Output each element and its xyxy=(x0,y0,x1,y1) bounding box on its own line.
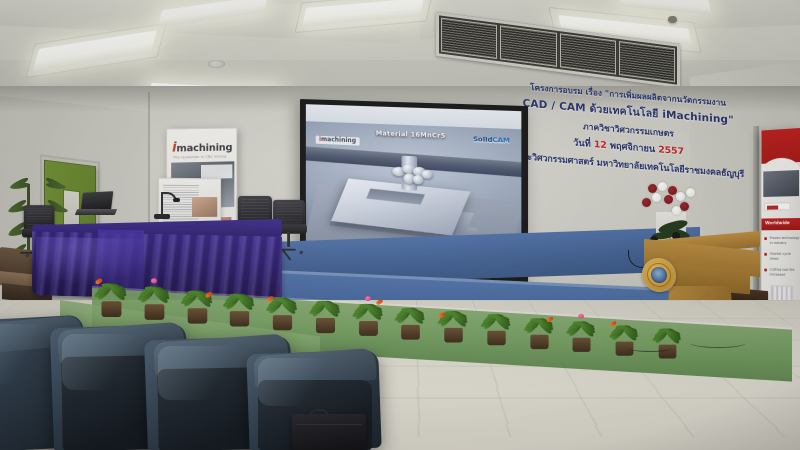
ceiling-fitting-1 xyxy=(208,60,225,68)
presenter-laptop[interactable] xyxy=(76,192,116,218)
solidcam-logo-icon: SolidCAM xyxy=(473,135,510,143)
banner-right-header xyxy=(761,128,800,164)
fern-foliage xyxy=(220,287,261,318)
briefcase-seam xyxy=(296,424,362,425)
fern-pink-flower xyxy=(365,296,371,301)
potted-fern xyxy=(349,294,389,336)
fern-foliage xyxy=(306,294,346,324)
banner-left-callout xyxy=(201,164,232,179)
potted-fern xyxy=(478,305,517,346)
fern-foliage xyxy=(563,315,601,343)
imachining-logo-text: machining xyxy=(321,136,356,145)
floor-cable xyxy=(628,344,672,352)
potted-fern xyxy=(521,309,559,349)
orchid-bloom xyxy=(680,202,689,211)
fern-foliage xyxy=(521,312,559,341)
vent-cell xyxy=(500,25,556,66)
fern-foliage xyxy=(392,301,431,331)
seminar-room-photo: โครงการอบรม เรื่อง "การเพิ่มผลผลิตจากนวั… xyxy=(0,0,800,450)
banner-left-title-rest: machining xyxy=(176,142,232,154)
orchid-bloom xyxy=(648,184,657,193)
orchid-bloom xyxy=(642,198,651,207)
floor-cable xyxy=(690,338,746,348)
orchid-bloom xyxy=(652,193,661,202)
banner-right-photo xyxy=(763,170,799,197)
potted-fern xyxy=(220,284,261,327)
institution-emblem-icon xyxy=(642,257,676,293)
banner-bullet: Proven technology in industry xyxy=(764,236,800,245)
potted-fern xyxy=(306,291,346,333)
imachining-logo-icon: imachining xyxy=(316,136,359,146)
orchid-bloom xyxy=(676,192,685,201)
fern-foliage xyxy=(263,290,304,320)
banner-right-section-bar: Worldwide xyxy=(761,218,800,230)
vent-cell xyxy=(619,41,675,82)
orchid-bloom xyxy=(686,188,695,197)
vent-cell xyxy=(441,18,497,59)
sprinkler-head-icon xyxy=(668,16,677,23)
potted-fern xyxy=(134,277,176,321)
microphone-capsule-icon xyxy=(173,198,180,202)
banner-left-title: imachining xyxy=(172,140,235,154)
banner-bullet: Cutting tool life increased xyxy=(764,268,800,278)
solidcam-logo-cam: CAM xyxy=(492,135,510,144)
potted-fern xyxy=(392,298,431,339)
potted-fern xyxy=(563,312,601,352)
vent-cell xyxy=(560,33,616,74)
seat-highlight xyxy=(258,358,350,406)
potted-fern xyxy=(263,287,304,330)
banner-right-section-heading: Worldwide xyxy=(765,221,790,226)
solidcam-logo-solid: Solid xyxy=(473,134,492,143)
emblem-ring xyxy=(647,262,671,287)
orchid-bloom xyxy=(658,182,667,191)
desk-microphone[interactable] xyxy=(148,188,180,220)
fern-foliage xyxy=(435,304,474,333)
banner-right-bullet-list: Proven technology in industry Shorter cy… xyxy=(764,236,800,285)
orchid-bloom xyxy=(672,206,681,215)
banner-left-subtitle: The revolution in CNC milling xyxy=(173,154,234,159)
laptop-keyboard[interactable] xyxy=(75,209,117,215)
briefcase-handle xyxy=(310,409,328,416)
banner-bullet: Shorter cycle times xyxy=(764,252,800,261)
black-briefcase[interactable] xyxy=(292,414,366,450)
fern-foliage xyxy=(134,280,176,311)
potted-fern xyxy=(649,319,686,358)
orchid-bloom xyxy=(664,195,673,204)
fern-foliage xyxy=(478,308,517,337)
potted-fern xyxy=(177,280,218,323)
seat-highlight xyxy=(62,334,158,390)
banner-right-logo xyxy=(764,202,790,210)
plant-leaf-tier xyxy=(6,170,50,192)
potted-fern xyxy=(435,302,474,343)
fern-foliage xyxy=(177,283,218,314)
video-milling-cutter xyxy=(391,163,434,186)
potted-fern xyxy=(91,273,133,317)
